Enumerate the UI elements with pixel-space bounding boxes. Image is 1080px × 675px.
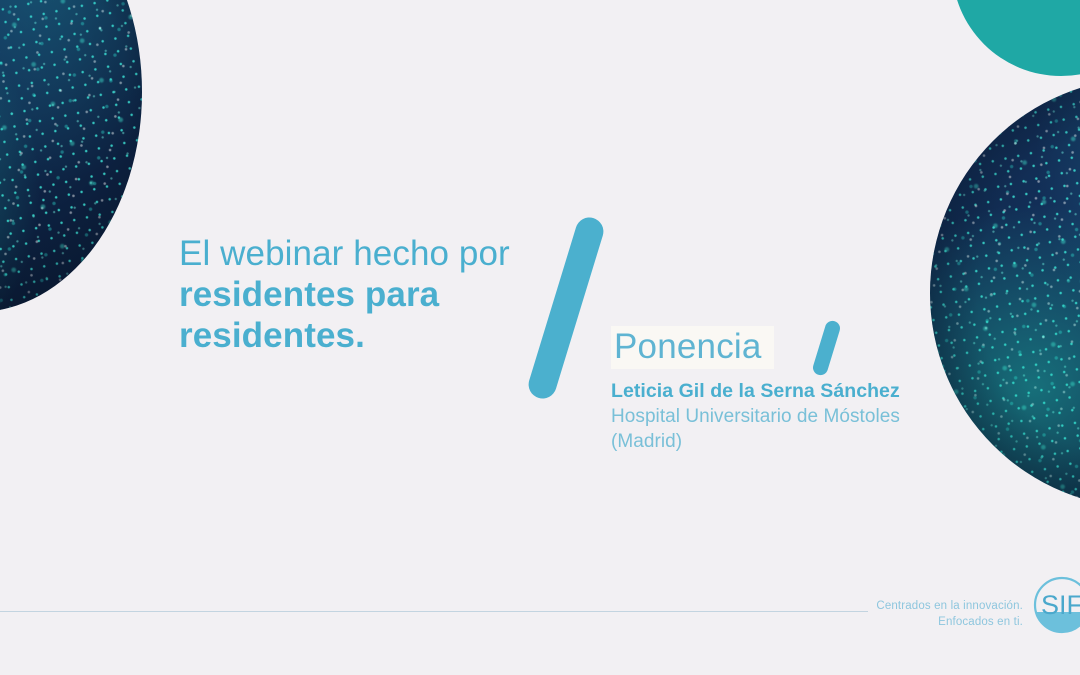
speaker-affiliation-line-1: Hospital Universitario de Móstoles xyxy=(611,404,956,429)
particle-sphere-left-decoration xyxy=(0,0,142,312)
tagline-line-1: Centrados en la innovación. xyxy=(876,598,1023,614)
speaker-affiliation-line-2: (Madrid) xyxy=(611,429,956,454)
speaker-name: Leticia Gil de la Serna Sánchez xyxy=(611,380,956,403)
teal-corner-decoration xyxy=(952,0,1080,76)
speaker-block: Ponencia Leticia Gil de la Serna Sánchez… xyxy=(611,326,956,454)
headline-line-1: El webinar hecho por xyxy=(179,234,579,275)
presentation-slide: El webinar hecho por residentes para res… xyxy=(0,0,1080,675)
brand-tagline: Centrados en la innovación. Enfocados en… xyxy=(876,598,1023,631)
sif-logo-text: SIF xyxy=(1041,590,1080,620)
headline-line-2: residentes para xyxy=(179,275,579,316)
footer-divider xyxy=(0,611,868,612)
headline-line-3: residentes. xyxy=(179,316,579,357)
ponencia-label: Ponencia xyxy=(611,326,774,369)
slide-headline: El webinar hecho por residentes para res… xyxy=(179,234,579,357)
sif-logo: SIF xyxy=(1031,574,1080,636)
particle-vignette-layer xyxy=(0,0,142,312)
tagline-line-2: Enfocados en ti. xyxy=(876,614,1023,630)
